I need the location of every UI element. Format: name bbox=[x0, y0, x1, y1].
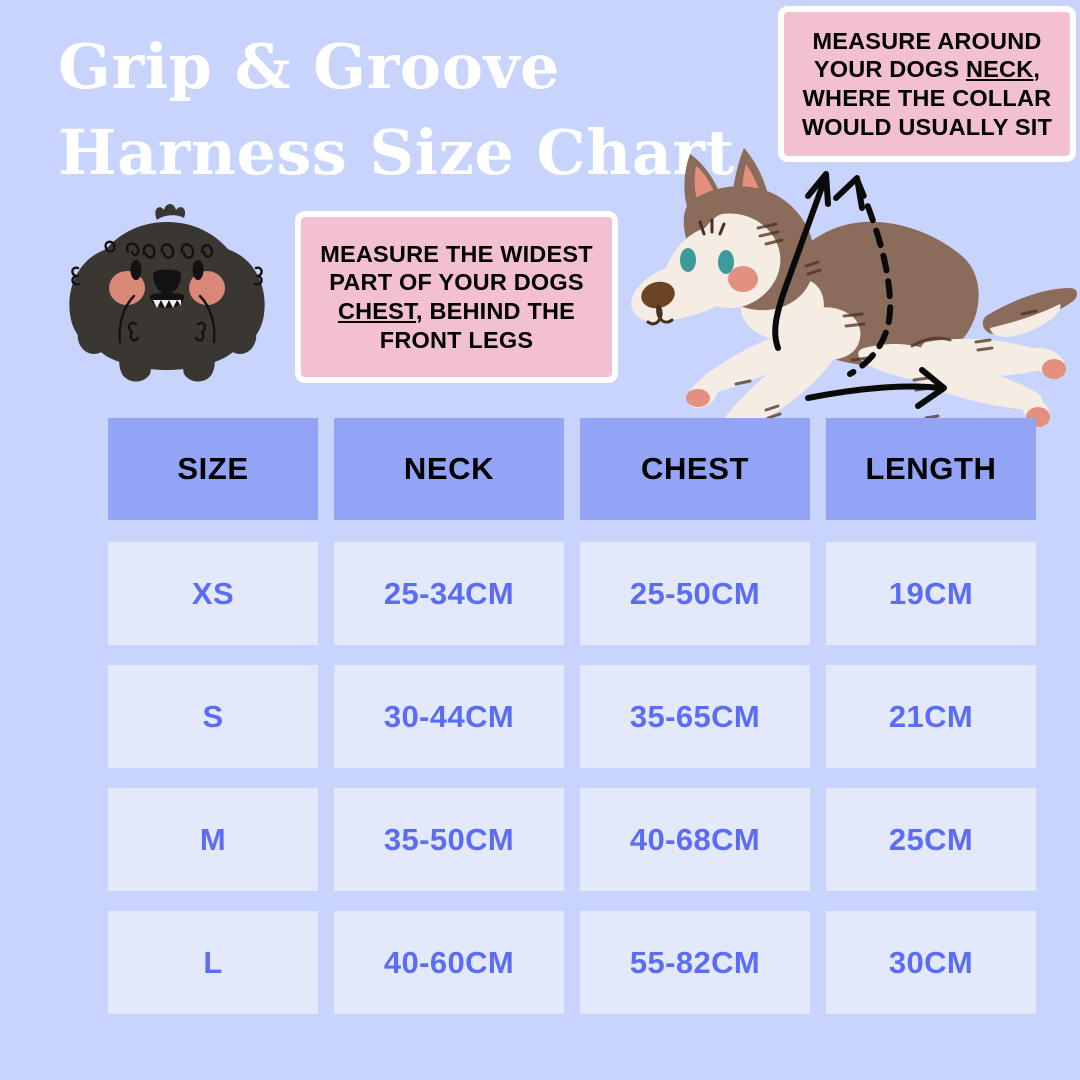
table-header-row: SIZE NECK CHEST LENGTH bbox=[108, 418, 1004, 520]
chest-callout-line-4: FRONT LEGS bbox=[380, 327, 533, 353]
black-dog-illustration bbox=[52, 196, 282, 386]
cell-chest: 35-65CM bbox=[580, 665, 810, 768]
table-row: S 30-44CM 35-65CM 21CM bbox=[108, 665, 1004, 768]
size-chart-page: Grip & Groove Harness Size Chart bbox=[0, 0, 1080, 1080]
title-line-2: Harness Size Chart bbox=[58, 110, 718, 196]
cell-length: 30CM bbox=[826, 911, 1036, 1014]
chest-callout-line-1: MEASURE THE WIDEST bbox=[320, 241, 593, 267]
table-row: M 35-50CM 40-68CM 25CM bbox=[108, 788, 1004, 891]
neck-callout-line-4: WOULD USUALLY SIT bbox=[802, 114, 1052, 140]
chest-callout-line-2: PART OF YOUR DOGS bbox=[329, 269, 584, 295]
cell-size: S bbox=[108, 665, 318, 768]
page-title: Grip & Groove Harness Size Chart bbox=[58, 24, 718, 196]
cell-chest: 40-68CM bbox=[580, 788, 810, 891]
size-chart-table: SIZE NECK CHEST LENGTH XS 25-34CM 25-50C… bbox=[108, 418, 1004, 1034]
chest-callout-text: MEASURE THE WIDEST PART OF YOUR DOGS CHE… bbox=[314, 240, 599, 355]
column-header-chest: CHEST bbox=[580, 418, 810, 520]
neck-callout-line-3: WHERE THE COLLAR bbox=[803, 85, 1052, 111]
neck-callout-line-2-post: , bbox=[1033, 56, 1040, 82]
cell-neck: 40-60CM bbox=[334, 911, 564, 1014]
black-dog-body bbox=[69, 204, 264, 382]
column-header-length: LENGTH bbox=[826, 418, 1036, 520]
table-row: L 40-60CM 55-82CM 30CM bbox=[108, 911, 1004, 1014]
cell-length: 19CM bbox=[826, 542, 1036, 645]
chest-callout-line-3-post: , BEHIND THE bbox=[416, 298, 575, 324]
column-header-neck: NECK bbox=[334, 418, 564, 520]
cell-size: XS bbox=[108, 542, 318, 645]
cell-length: 25CM bbox=[826, 788, 1036, 891]
cell-neck: 30-44CM bbox=[334, 665, 564, 768]
husky-cheek bbox=[728, 266, 758, 292]
neck-callout-line-1: MEASURE AROUND bbox=[812, 28, 1041, 54]
neck-callout: MEASURE AROUND YOUR DOGS NECK, WHERE THE… bbox=[778, 6, 1076, 162]
husky-eye-left bbox=[680, 248, 696, 272]
column-header-size: SIZE bbox=[108, 418, 318, 520]
chest-callout: MEASURE THE WIDEST PART OF YOUR DOGS CHE… bbox=[295, 211, 618, 383]
cell-neck: 25-34CM bbox=[334, 542, 564, 645]
husky-body bbox=[631, 148, 1077, 450]
cell-length: 21CM bbox=[826, 665, 1036, 768]
husky-illustration bbox=[626, 136, 1080, 456]
cell-size: L bbox=[108, 911, 318, 1014]
title-line-1: Grip & Groove bbox=[58, 24, 718, 110]
cell-size: M bbox=[108, 788, 318, 891]
neck-callout-line-2-pre: YOUR DOGS bbox=[814, 56, 966, 82]
cell-neck: 35-50CM bbox=[334, 788, 564, 891]
cell-chest: 55-82CM bbox=[580, 911, 810, 1014]
table-row: XS 25-34CM 25-50CM 19CM bbox=[108, 542, 1004, 645]
neck-callout-text: MEASURE AROUND YOUR DOGS NECK, WHERE THE… bbox=[796, 27, 1058, 142]
neck-callout-emphasis: NECK bbox=[966, 56, 1033, 82]
cell-chest: 25-50CM bbox=[580, 542, 810, 645]
husky-eye-right bbox=[718, 250, 734, 274]
chest-callout-emphasis: CHEST bbox=[338, 298, 416, 324]
